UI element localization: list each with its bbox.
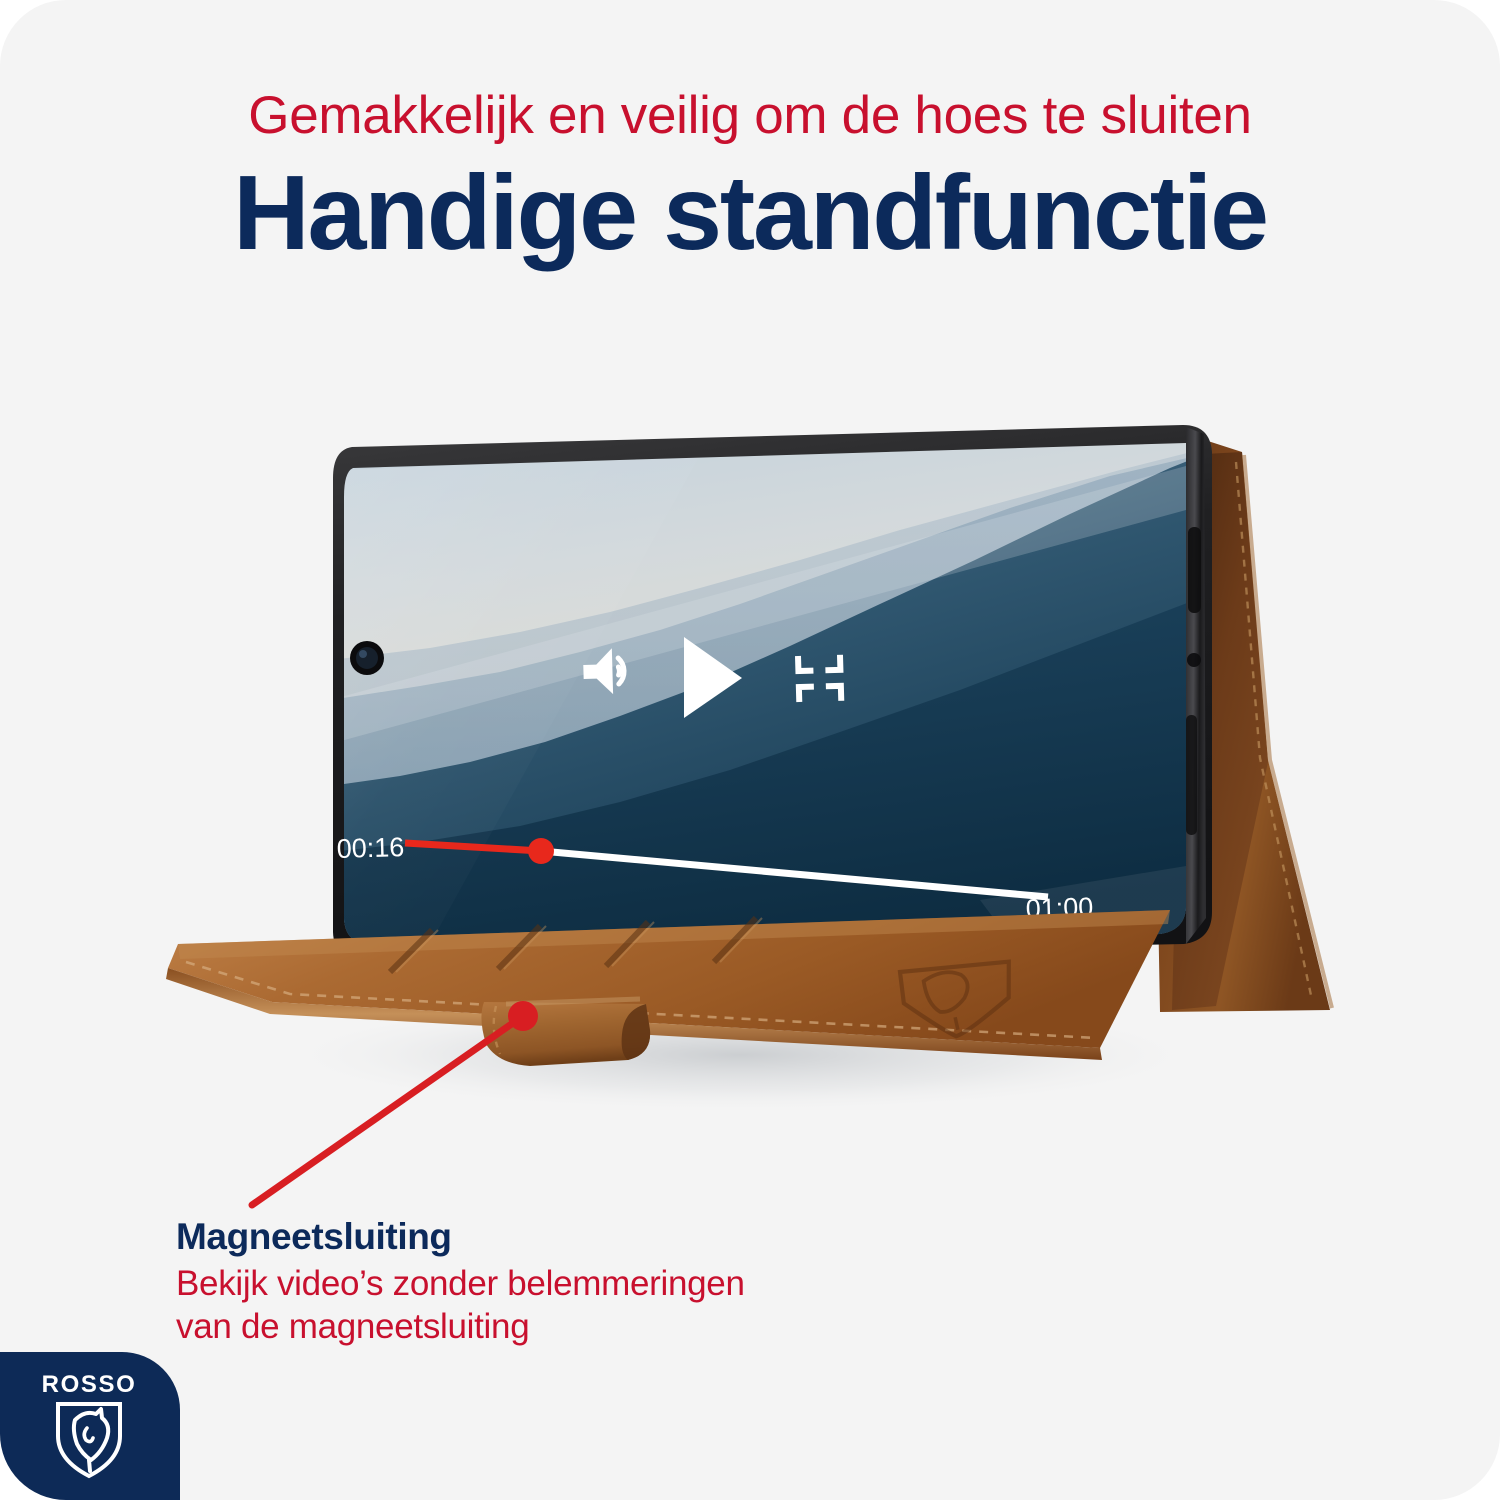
horse-head-shield-icon xyxy=(41,1400,137,1480)
callout-body-line-2: van de magneetsluiting xyxy=(176,1305,936,1348)
progress-handle[interactable] xyxy=(528,838,554,864)
volume-button xyxy=(1188,527,1201,613)
brand-logo: ROSSO xyxy=(41,1373,137,1481)
brand-wordmark: ROSSO xyxy=(41,1373,137,1397)
callout-body-line-1: Bekijk video’s zonder belemmeringen xyxy=(176,1262,936,1305)
phone-right-side xyxy=(1186,427,1206,944)
callout-marker-dot xyxy=(508,1001,538,1031)
phone-screen xyxy=(330,430,1230,960)
callout-block: Magneetsluiting Bekijk video’s zonder be… xyxy=(176,1216,936,1349)
product-feature-card: Gemakkelijk en veilig om de hoes te slui… xyxy=(0,0,1500,1500)
callout-title: Magneetsluiting xyxy=(176,1216,936,1259)
front-camera xyxy=(350,641,384,675)
elapsed-time: 00:16 xyxy=(336,832,404,864)
microphone-hole xyxy=(1187,653,1201,667)
brand-badge: ROSSO xyxy=(0,1352,180,1500)
power-button xyxy=(1186,715,1197,835)
